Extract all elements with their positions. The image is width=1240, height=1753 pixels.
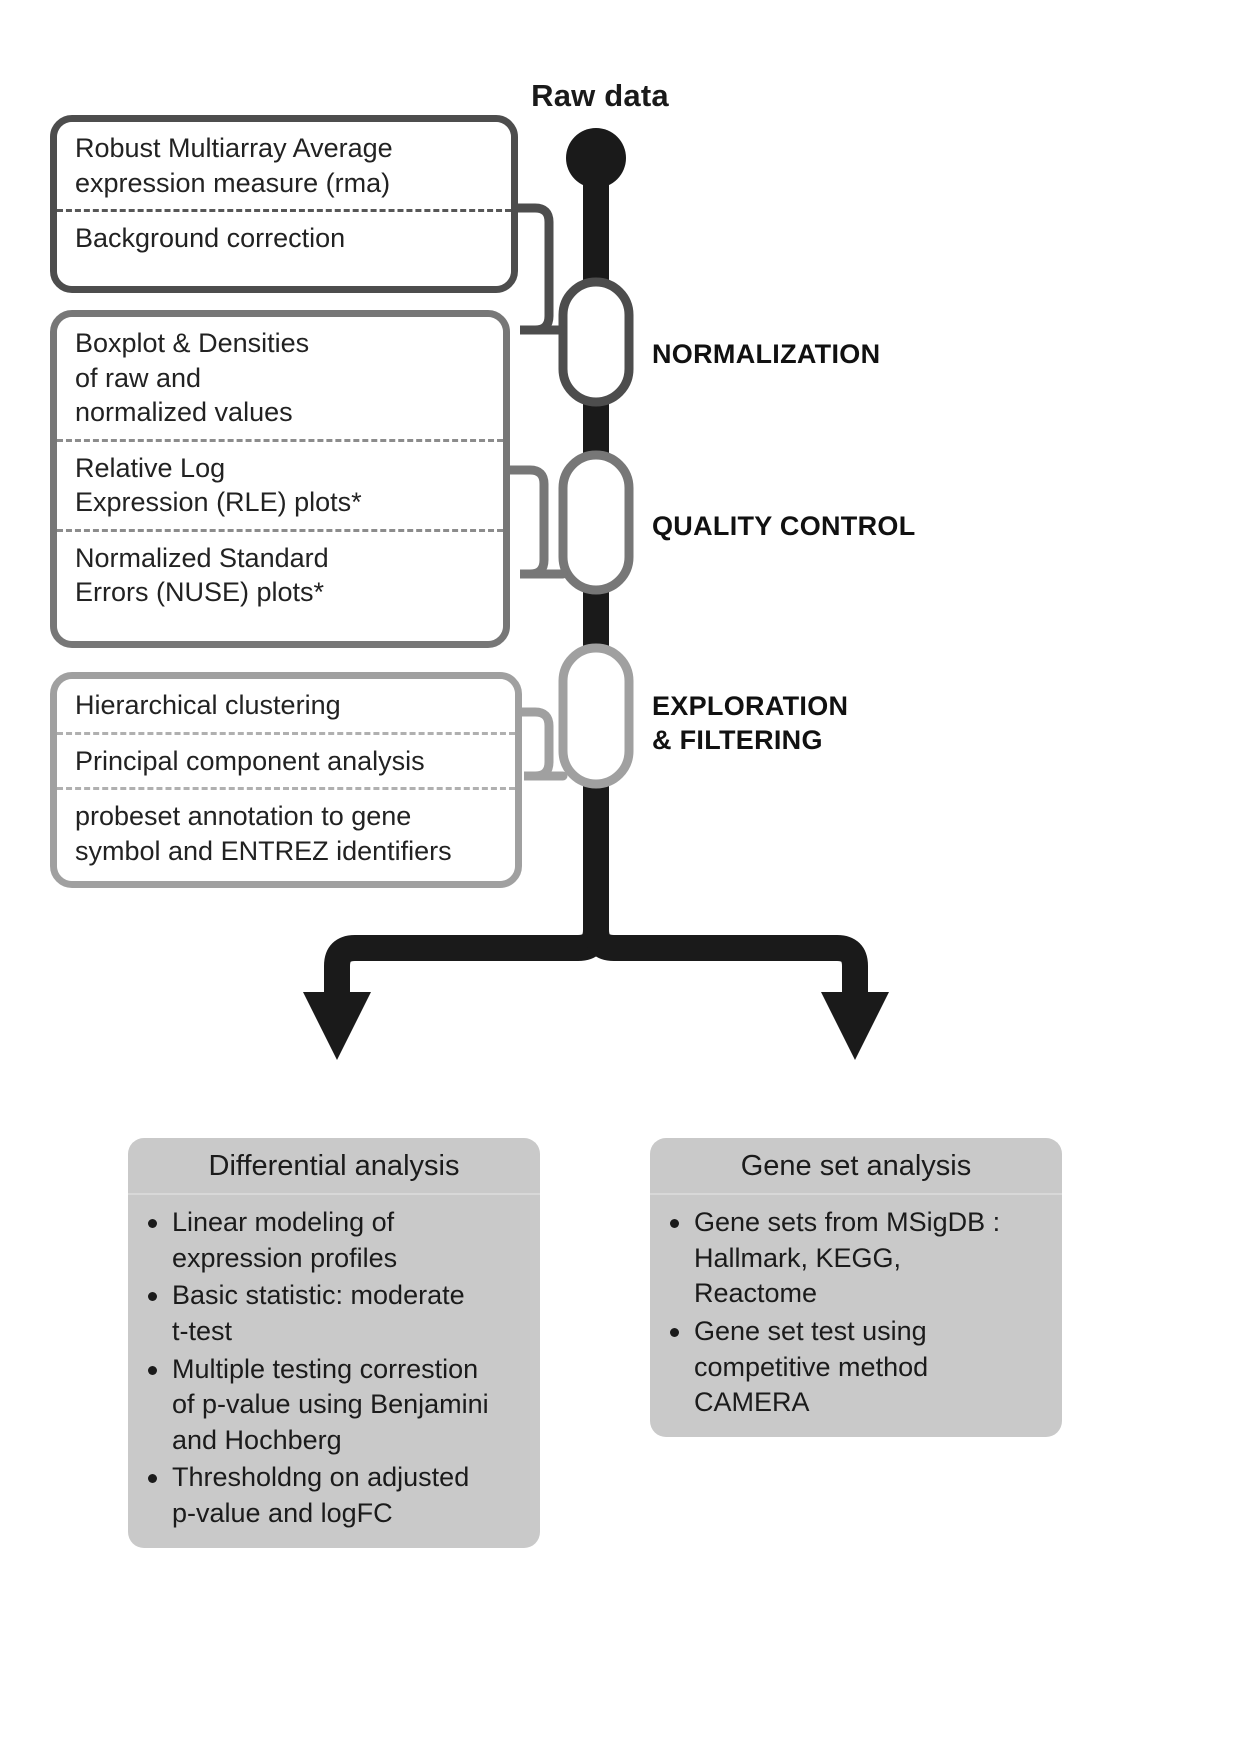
raw-data-title: Raw data	[480, 78, 720, 114]
stage-row: probeset annotation to gene symbol and E…	[57, 787, 515, 877]
stage-label-exploration: EXPLORATION & FILTERING	[652, 690, 848, 758]
connector-exploration	[518, 712, 563, 776]
stage-card-normalization-inner: Robust Multiarray Average expression mea…	[57, 122, 511, 286]
list-item: Linear modeling of expression profiles	[146, 1205, 526, 1276]
stage-row: Principal component analysis	[57, 732, 515, 788]
connector-quality-control	[508, 470, 563, 574]
stage-row: Hierarchical clustering	[57, 679, 515, 732]
output-panel-gene-set-analysis[interactable]: Gene set analysis Gene sets from MSigDB …	[650, 1138, 1062, 1437]
panel-title: Gene set analysis	[650, 1138, 1062, 1195]
arrowhead-geneset	[821, 992, 889, 1060]
list-item: Multiple testing correstion of p-value u…	[146, 1352, 526, 1459]
arrowhead-differential	[303, 992, 371, 1060]
stage-node-normalization	[563, 282, 629, 402]
list-item-text: Gene set test using competitive method C…	[694, 1314, 1048, 1421]
spine-main-line	[583, 150, 609, 920]
list-item-text: Multiple testing correstion of p-value u…	[172, 1352, 526, 1459]
list-item: Gene set test using competitive method C…	[668, 1314, 1048, 1421]
panel-bullet-list: Linear modeling of expression profiles B…	[128, 1195, 540, 1548]
stage-card-exploration[interactable]: Hierarchical clustering Principal compon…	[50, 672, 522, 888]
stage-row: Robust Multiarray Average expression mea…	[57, 122, 511, 209]
bullet-dot-icon	[148, 1474, 157, 1483]
stage-row: Background correction	[57, 209, 511, 265]
list-item-text: Thresholdng on adjusted p-value and logF…	[172, 1460, 526, 1531]
raw-data-node	[566, 128, 626, 188]
workflow-diagram: Raw data	[0, 0, 1240, 1753]
stage-label-quality-control: QUALITY CONTROL	[652, 510, 916, 544]
stage-row: Boxplot & Densities of raw and normalize…	[57, 317, 503, 439]
stage-row: Normalized Standard Errors (NUSE) plots*	[57, 529, 503, 619]
panel-bullet-list: Gene sets from MSigDB : Hallmark, KEGG, …	[650, 1195, 1062, 1437]
panel-title: Differential analysis	[128, 1138, 540, 1195]
bullet-dot-icon	[148, 1292, 157, 1301]
branch-split	[337, 905, 855, 1000]
bullet-dot-icon	[148, 1366, 157, 1375]
stage-node-quality-control	[563, 455, 629, 590]
list-item-text: Linear modeling of expression profiles	[172, 1205, 526, 1276]
list-item: Thresholdng on adjusted p-value and logF…	[146, 1460, 526, 1531]
stage-node-exploration	[563, 648, 629, 784]
stage-label-normalization: NORMALIZATION	[652, 338, 880, 372]
stage-card-quality-control-inner: Boxplot & Densities of raw and normalize…	[57, 317, 503, 641]
bullet-dot-icon	[670, 1219, 679, 1228]
output-panel-differential-analysis[interactable]: Differential analysis Linear modeling of…	[128, 1138, 540, 1548]
stage-row: Relative Log Expression (RLE) plots*	[57, 439, 503, 529]
list-item: Basic statistic: moderate t-test	[146, 1278, 526, 1349]
stage-card-normalization[interactable]: Robust Multiarray Average expression mea…	[50, 115, 518, 293]
list-item: Gene sets from MSigDB : Hallmark, KEGG, …	[668, 1205, 1048, 1312]
bullet-dot-icon	[670, 1328, 679, 1337]
list-item-text: Basic statistic: moderate t-test	[172, 1278, 526, 1349]
list-item-text: Gene sets from MSigDB : Hallmark, KEGG, …	[694, 1205, 1048, 1312]
bullet-dot-icon	[148, 1219, 157, 1228]
connector-normalization	[512, 208, 563, 330]
stage-card-quality-control[interactable]: Boxplot & Densities of raw and normalize…	[50, 310, 510, 648]
stage-card-exploration-inner: Hierarchical clustering Principal compon…	[57, 679, 515, 881]
